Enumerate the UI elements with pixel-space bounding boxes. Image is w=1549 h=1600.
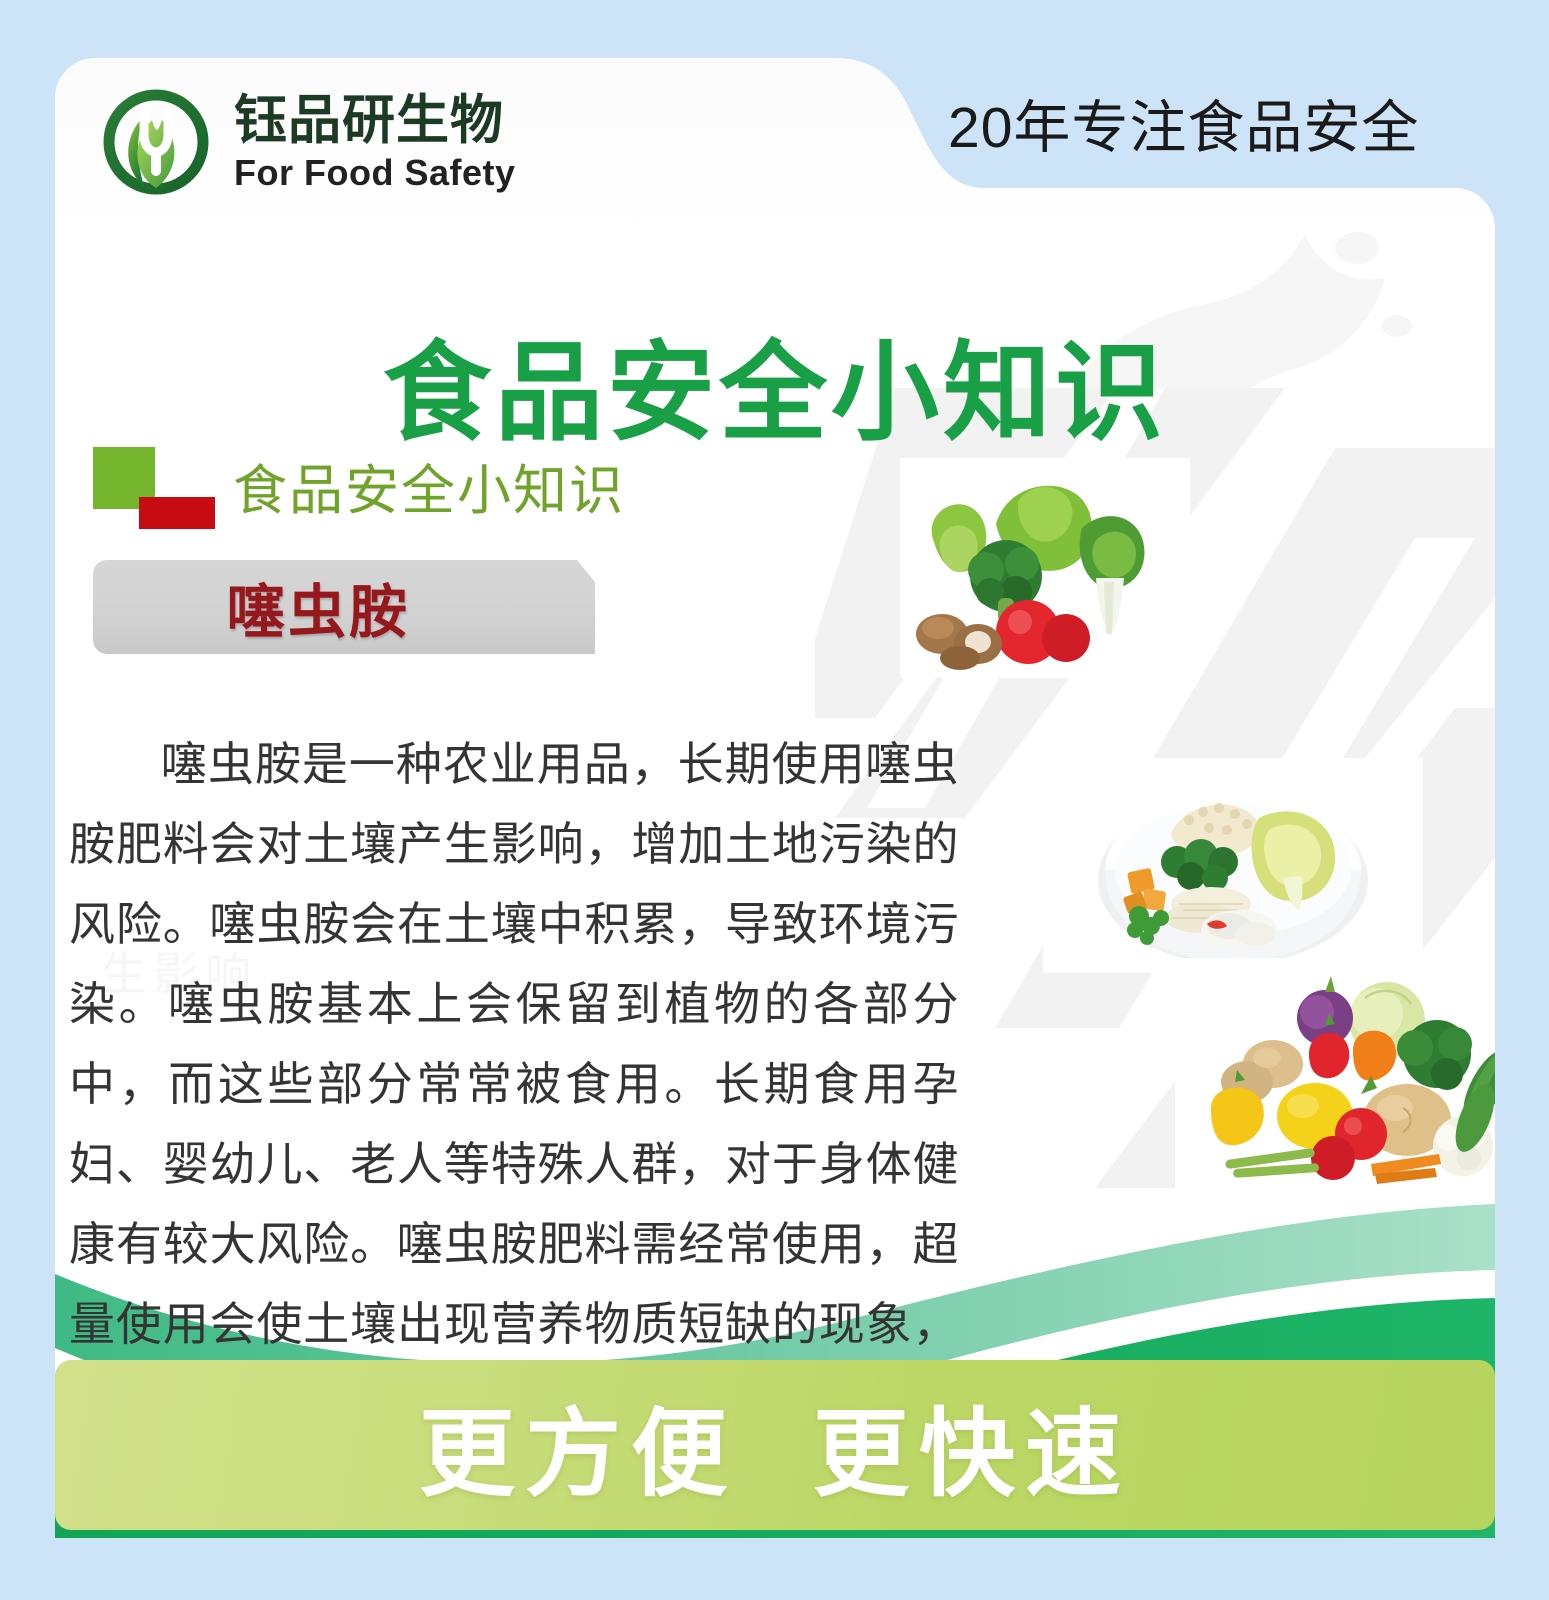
footer-slogan-banner: 更方便 更快速	[55, 1360, 1495, 1530]
brand-header: 钰品研生物 For Food Safety	[100, 86, 516, 198]
brand-tagline: 20年专注食品安全	[948, 82, 1419, 164]
article-body: 噻虫胺是一种农业用品，长期使用噻虫胺肥料会对土壤产生影响，增加土地污染的风险。噻…	[69, 724, 959, 1444]
page-title: 食品安全小知识	[55, 306, 1495, 462]
article-ribbon: 噻虫胺	[93, 560, 595, 654]
photo-vegetable-hotpot-bowl	[1043, 758, 1423, 973]
content-card: 钰品研生物 For Food Safety 食品安全小知识 食品安全小知识 噻虫…	[55, 58, 1495, 1538]
poster-root: 钰品研生物 For Food Safety 食品安全小知识 食品安全小知识 噻虫…	[0, 0, 1549, 1600]
brand-name-en: For Food Safety	[234, 155, 516, 191]
leaf-circle-logo-icon	[100, 86, 212, 198]
brand-text: 钰品研生物 For Food Safety	[234, 94, 516, 191]
photo-leafy-greens-tomato-mushroom	[900, 458, 1190, 678]
footer-slogan-left: 更方便	[419, 1376, 737, 1515]
article-ribbon-title: 噻虫胺	[227, 565, 410, 649]
red-bar-marker-icon	[139, 497, 215, 529]
brand-name-cn: 钰品研生物	[234, 94, 516, 147]
photo-assorted-vegetable-pile	[1175, 958, 1495, 1188]
footer-slogan-right: 更快速	[813, 1376, 1131, 1515]
